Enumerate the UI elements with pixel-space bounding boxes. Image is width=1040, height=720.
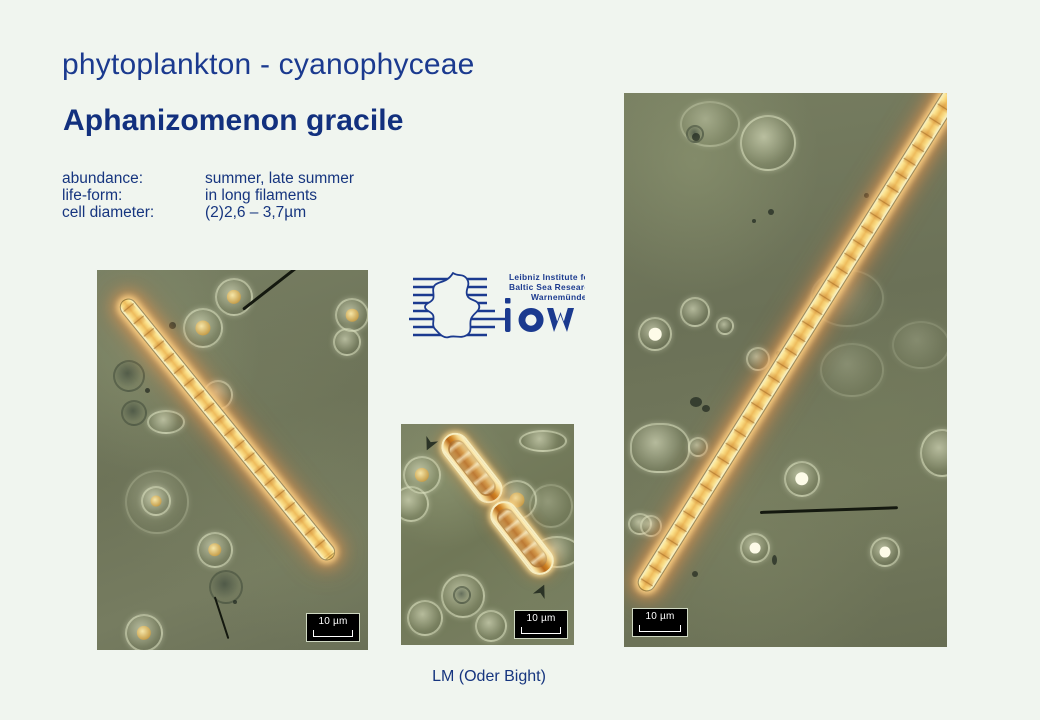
iow-logo-graphic: Leibniz Institute for Baltic Sea Researc… [409, 271, 585, 351]
debris-speck [768, 209, 774, 215]
scale-bar: 10 µm [632, 608, 688, 637]
page-title: Aphanizomenon gracile [63, 104, 403, 138]
cell-blob [680, 297, 710, 327]
cell-blob [475, 610, 507, 642]
debris-speck [692, 133, 700, 141]
baltic-map-icon [425, 273, 479, 337]
cell-blob [183, 308, 223, 348]
debris-speck [864, 193, 869, 198]
center-image-caption: LM (Oder Bight) [411, 668, 567, 686]
fact-row-cell-diameter: cell diameter: (2)2,6 – 3,7µm [62, 204, 354, 221]
logo-line-1: Leibniz Institute for [509, 272, 585, 282]
fact-label-life-form: life-form: [62, 187, 205, 204]
page-kicker: phytoplankton - cyanophyceae [62, 48, 475, 82]
fact-value-abundance: summer, late summer [205, 170, 354, 187]
iow-logo: Leibniz Institute for Baltic Sea Researc… [409, 271, 585, 351]
cell-blob [716, 317, 734, 335]
cell-blob [407, 600, 443, 636]
cell-blob [640, 515, 662, 537]
cell-blob [740, 115, 796, 171]
debris-speck [702, 405, 710, 412]
debris-speck [752, 219, 756, 223]
center-micrograph[interactable]: 10 µm [401, 424, 574, 645]
cell-blob [519, 430, 567, 452]
cell-blob [141, 486, 171, 516]
cell-blob [740, 533, 770, 563]
scale-bar-label: 10 µm [521, 613, 561, 625]
left-micrograph[interactable]: 10 µm [97, 270, 368, 650]
scale-bar-label: 10 µm [639, 611, 681, 623]
debris-speck [772, 555, 777, 565]
cell-blob [892, 321, 947, 369]
fact-list: abundance: summer, late summer life-form… [62, 170, 354, 221]
scale-bar-line [313, 630, 353, 637]
cell-blob [121, 400, 147, 426]
cell-blob [820, 343, 884, 397]
slide-canvas: phytoplankton - cyanophyceae Aphanizomen… [0, 0, 1040, 720]
scale-bar-line [639, 625, 681, 632]
cell-blob [147, 410, 185, 434]
cell-blob [113, 360, 145, 392]
cell-blob [746, 347, 770, 371]
cell-blob [125, 614, 163, 650]
fact-value-life-form: in long filaments [205, 187, 354, 204]
logo-line-3: Warnemünde [531, 292, 585, 302]
debris-speck [690, 397, 702, 407]
cell-blob [870, 537, 900, 567]
fact-label-abundance: abundance: [62, 170, 205, 187]
fact-row-abundance: abundance: summer, late summer [62, 170, 354, 187]
debris-speck [233, 600, 237, 604]
cell-blob [784, 461, 820, 497]
scale-bar: 10 µm [306, 613, 360, 642]
scale-bar: 10 µm [514, 610, 568, 639]
debris-speck [692, 571, 698, 577]
logo-line-2: Baltic Sea Research [509, 282, 585, 292]
cell-blob [529, 484, 573, 528]
scale-bar-line [521, 627, 561, 634]
scale-bar-label: 10 µm [313, 616, 353, 628]
debris-speck [169, 322, 176, 329]
cell-blob [688, 437, 708, 457]
cell-blob [630, 423, 690, 473]
cell-blob [197, 532, 233, 568]
cell-blob [453, 586, 471, 604]
cell-blob [333, 328, 361, 356]
fact-label-cell-diameter: cell diameter: [62, 204, 205, 221]
fact-value-cell-diameter: (2)2,6 – 3,7µm [205, 204, 354, 221]
debris-speck [145, 388, 150, 393]
cell-blob [638, 317, 672, 351]
cell-blob [215, 278, 253, 316]
cell-blob [335, 298, 368, 332]
fact-row-life-form: life-form: in long filaments [62, 187, 354, 204]
iow-wordmark-icon [505, 298, 574, 332]
right-micrograph[interactable]: 10 µm [624, 93, 947, 647]
